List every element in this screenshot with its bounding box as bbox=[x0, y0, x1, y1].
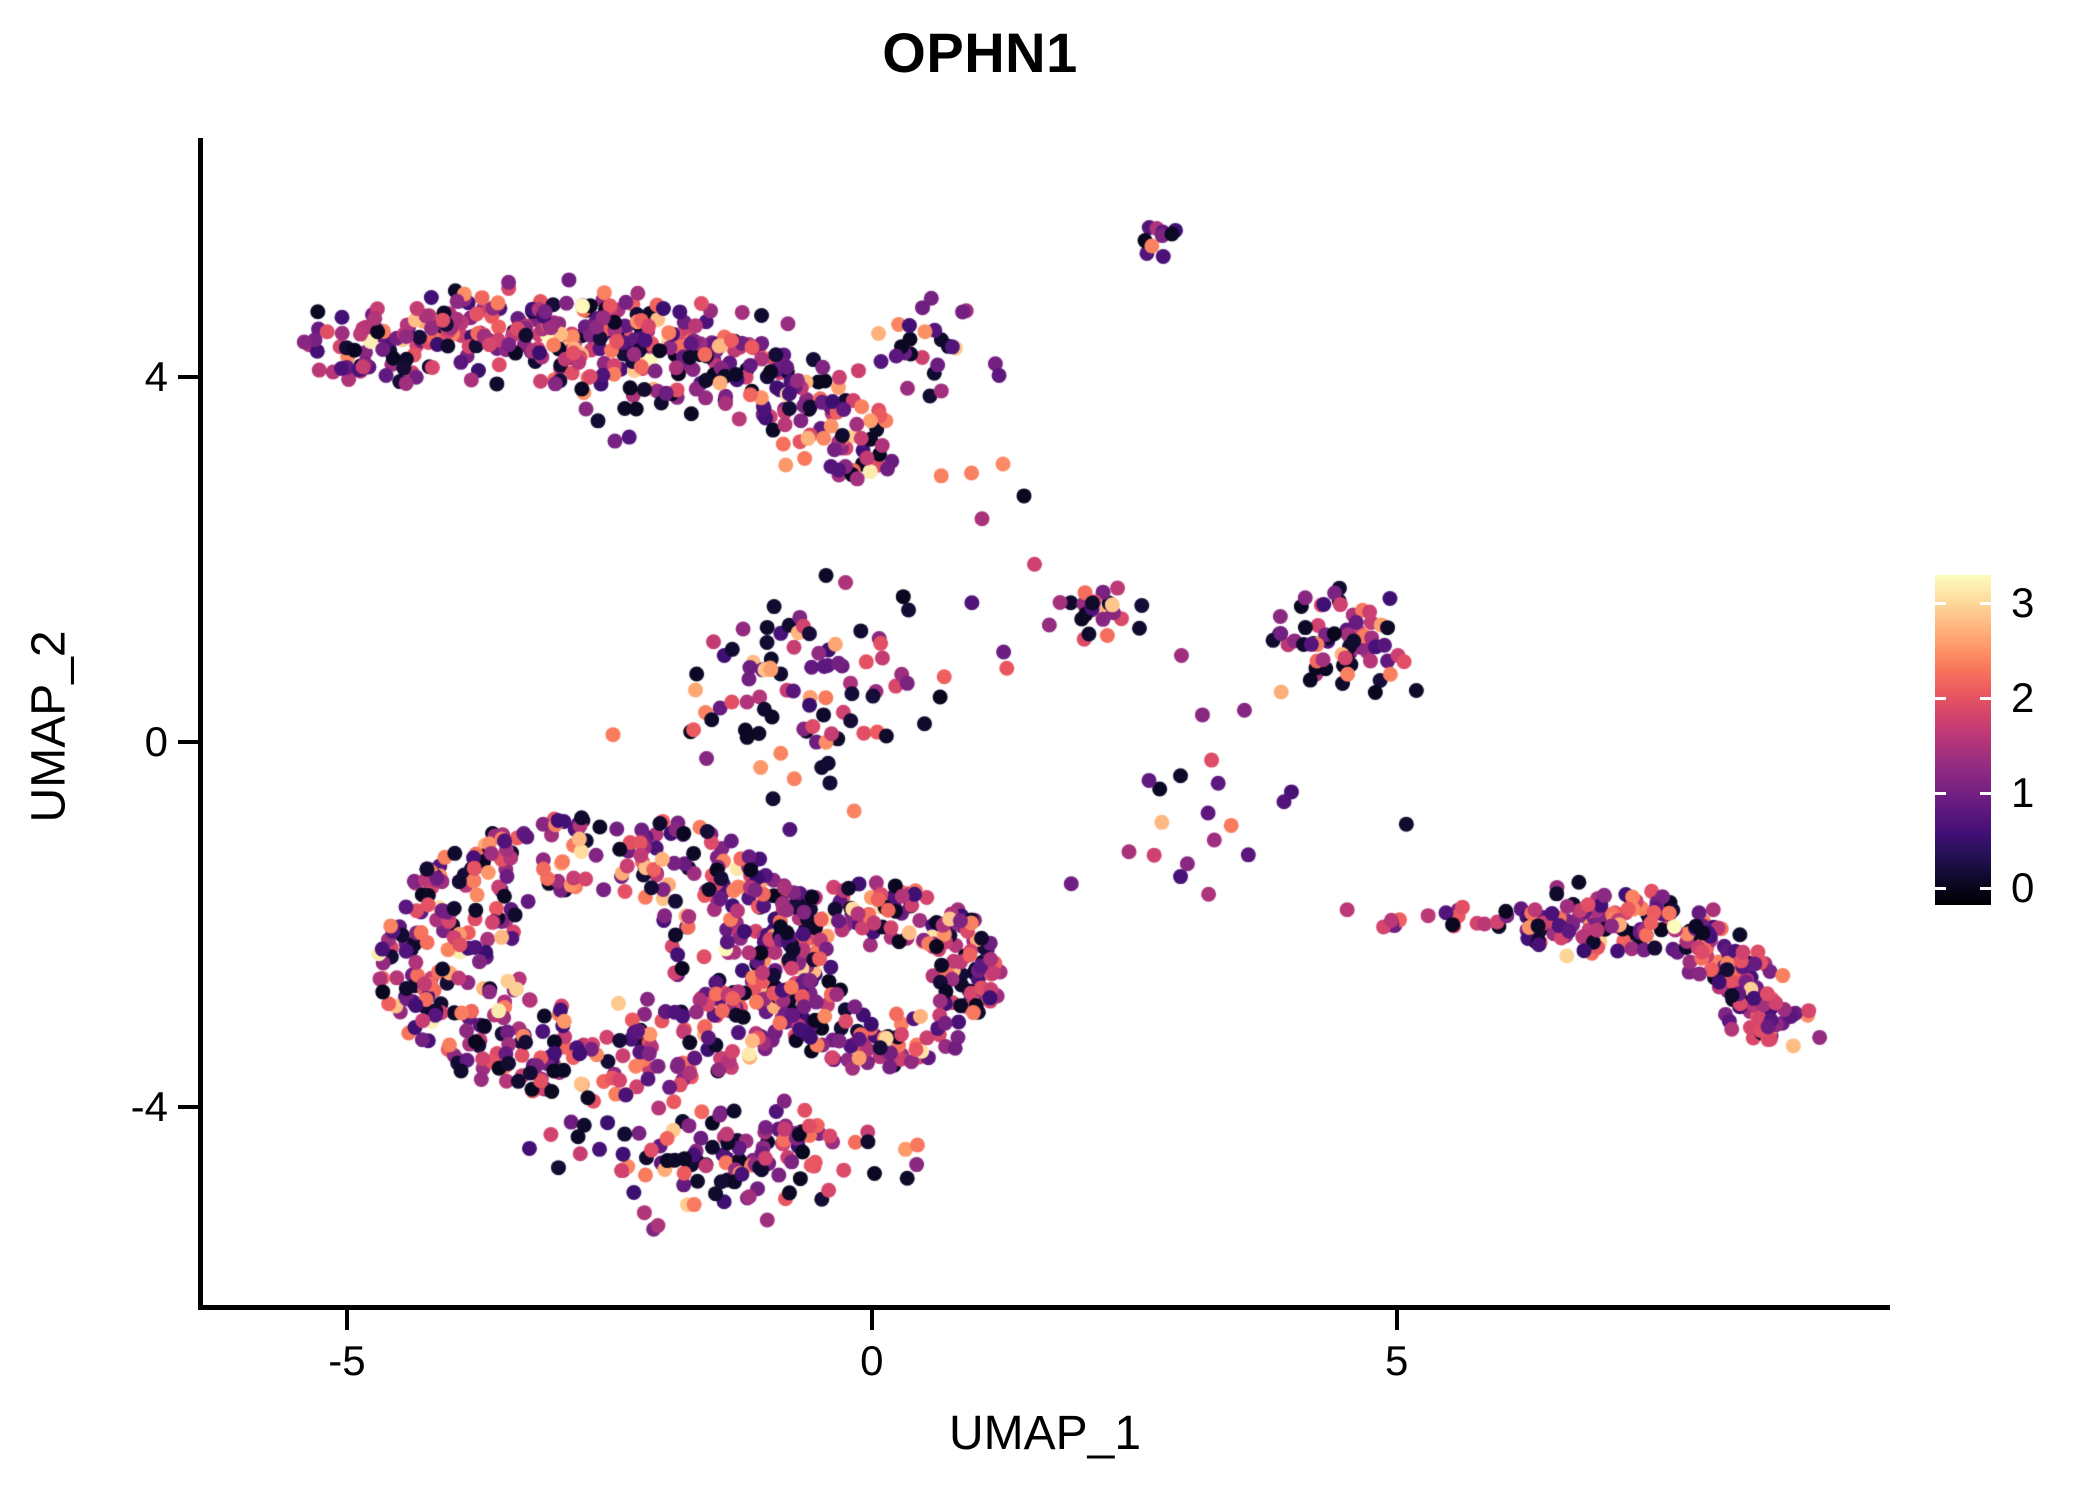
legend-tick-label: 1 bbox=[2011, 772, 2034, 814]
y-axis-title: UMAP_2 bbox=[24, 126, 77, 1326]
y-axis-tick bbox=[178, 1105, 198, 1109]
legend-tick-label: 0 bbox=[2011, 867, 2034, 909]
x-axis-tick bbox=[1395, 1310, 1399, 1330]
y-axis-tick bbox=[178, 375, 198, 379]
legend-tick bbox=[1935, 697, 1946, 700]
x-axis-tick-label: 5 bbox=[1317, 1340, 1477, 1382]
color-legend: 0 1 2 3 bbox=[1935, 570, 2095, 920]
x-axis-tick-label: -5 bbox=[267, 1340, 427, 1382]
y-axis-tick bbox=[178, 740, 198, 744]
x-axis-tick bbox=[870, 1310, 874, 1330]
legend-tick bbox=[1935, 602, 1946, 605]
legend-tick bbox=[1935, 792, 1946, 795]
y-axis-tick-label: 0 bbox=[145, 721, 168, 763]
legend-tick-label: 3 bbox=[2011, 582, 2034, 624]
x-axis-line bbox=[198, 1305, 1890, 1310]
x-axis-tick bbox=[345, 1310, 349, 1330]
x-axis-tick-label: 0 bbox=[792, 1340, 952, 1382]
scatter-canvas bbox=[200, 140, 1890, 1308]
legend-tick bbox=[1980, 602, 1991, 605]
page-title: OPHN1 bbox=[0, 22, 1960, 84]
legend-tick bbox=[1980, 697, 1991, 700]
umap-figure: OPHN1 -4 0 4 -5 0 5 UMAP_1 UMAP_2 0 1 2 … bbox=[0, 0, 2100, 1500]
legend-tick bbox=[1980, 887, 1991, 890]
y-axis-tick-label: -4 bbox=[131, 1086, 168, 1128]
legend-tick bbox=[1980, 792, 1991, 795]
legend-tick bbox=[1935, 887, 1946, 890]
y-axis-line bbox=[198, 138, 203, 1310]
legend-tick-label: 2 bbox=[2011, 677, 2034, 719]
x-axis-title: UMAP_1 bbox=[200, 1408, 1890, 1461]
y-axis-tick-label: 4 bbox=[145, 356, 168, 398]
plot-panel bbox=[200, 140, 1890, 1308]
colorbar-gradient bbox=[1935, 575, 1991, 905]
